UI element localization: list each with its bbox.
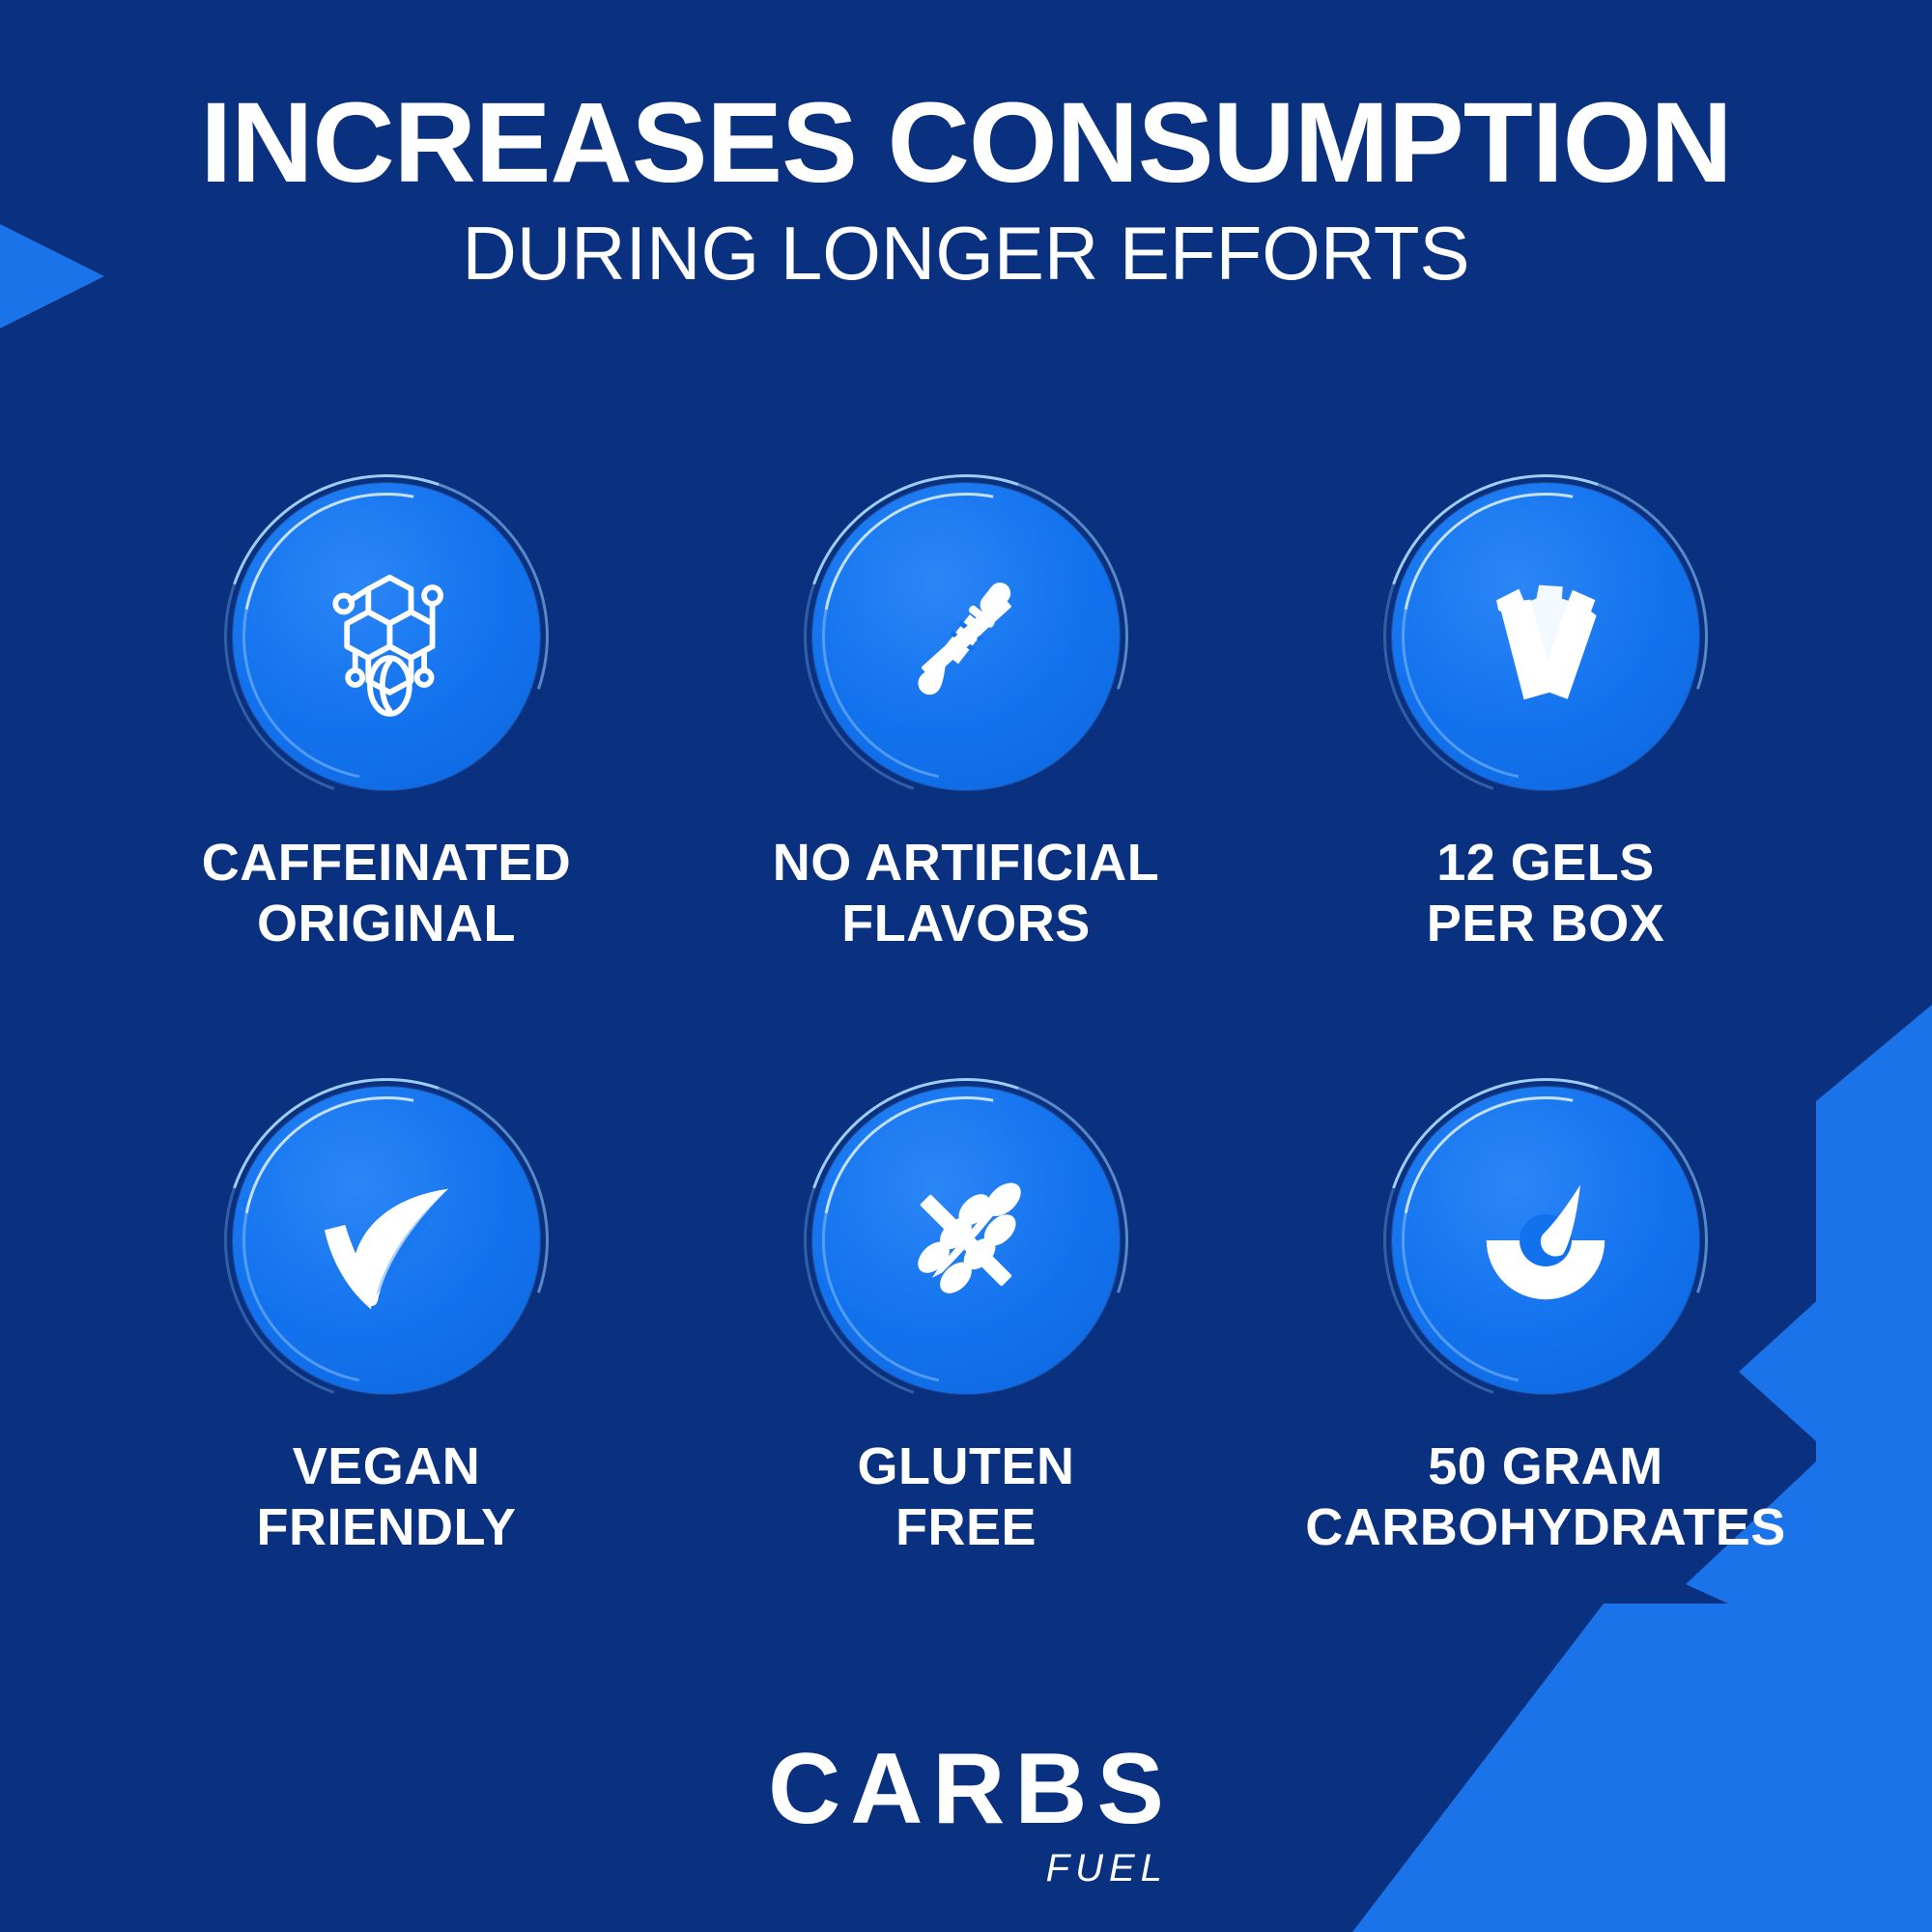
logo-wordmark: CARBS xyxy=(758,1739,1174,1839)
infographic-canvas: INCREASES CONSUMPTION DURING LONGER EFFO… xyxy=(0,0,1932,1932)
gel-packets-icon xyxy=(1461,552,1631,722)
feature-badge xyxy=(812,483,1120,790)
headline-block: INCREASES CONSUMPTION DURING LONGER EFFO… xyxy=(0,85,1932,294)
feature-grid: CAFFEINATED ORIGINAL NO ARTIFICIAL xyxy=(97,483,1835,1558)
feature-badge xyxy=(233,1087,540,1394)
page-subtitle: DURING LONGER EFFORTS xyxy=(0,213,1932,294)
feature-item-carbohydrates: 50 GRAM CARBOHYDRATES xyxy=(1256,1087,1835,1557)
feature-label: 12 GELS PER BOX xyxy=(1427,833,1665,953)
feature-badge xyxy=(812,1087,1120,1394)
feature-label: CAFFEINATED ORIGINAL xyxy=(202,833,571,953)
feature-item-caffeinated: CAFFEINATED ORIGINAL xyxy=(97,483,676,953)
carb-gauge-drop-icon xyxy=(1459,1153,1633,1327)
feature-label: NO ARTIFICIAL FLAVORS xyxy=(773,833,1159,953)
feature-badge xyxy=(1392,483,1699,790)
page-title: INCREASES CONSUMPTION xyxy=(0,85,1932,203)
feature-badge xyxy=(233,483,540,790)
feature-item-vegan-friendly: VEGAN FRIENDLY xyxy=(97,1087,676,1557)
caffeine-molecule-icon xyxy=(304,554,469,719)
no-dropper-icon xyxy=(884,554,1048,719)
leaf-check-icon xyxy=(300,1154,472,1326)
feature-label: VEGAN FRIENDLY xyxy=(256,1436,516,1557)
feature-label: 50 GRAM CARBOHYDRATES xyxy=(1305,1436,1786,1557)
brand-logo: CARBS FUEL xyxy=(0,1739,1932,1888)
feature-label: GLUTEN FREE xyxy=(858,1436,1075,1557)
logo-tagline: FUEL xyxy=(758,1849,1168,1888)
feature-item-no-artificial-flavors: NO ARTIFICIAL FLAVORS xyxy=(676,483,1256,953)
feature-item-gluten-free: GLUTEN FREE xyxy=(676,1087,1256,1557)
feature-badge xyxy=(1392,1087,1699,1394)
no-wheat-icon xyxy=(881,1155,1051,1325)
feature-item-gels-per-box: 12 GELS PER BOX xyxy=(1256,483,1835,953)
